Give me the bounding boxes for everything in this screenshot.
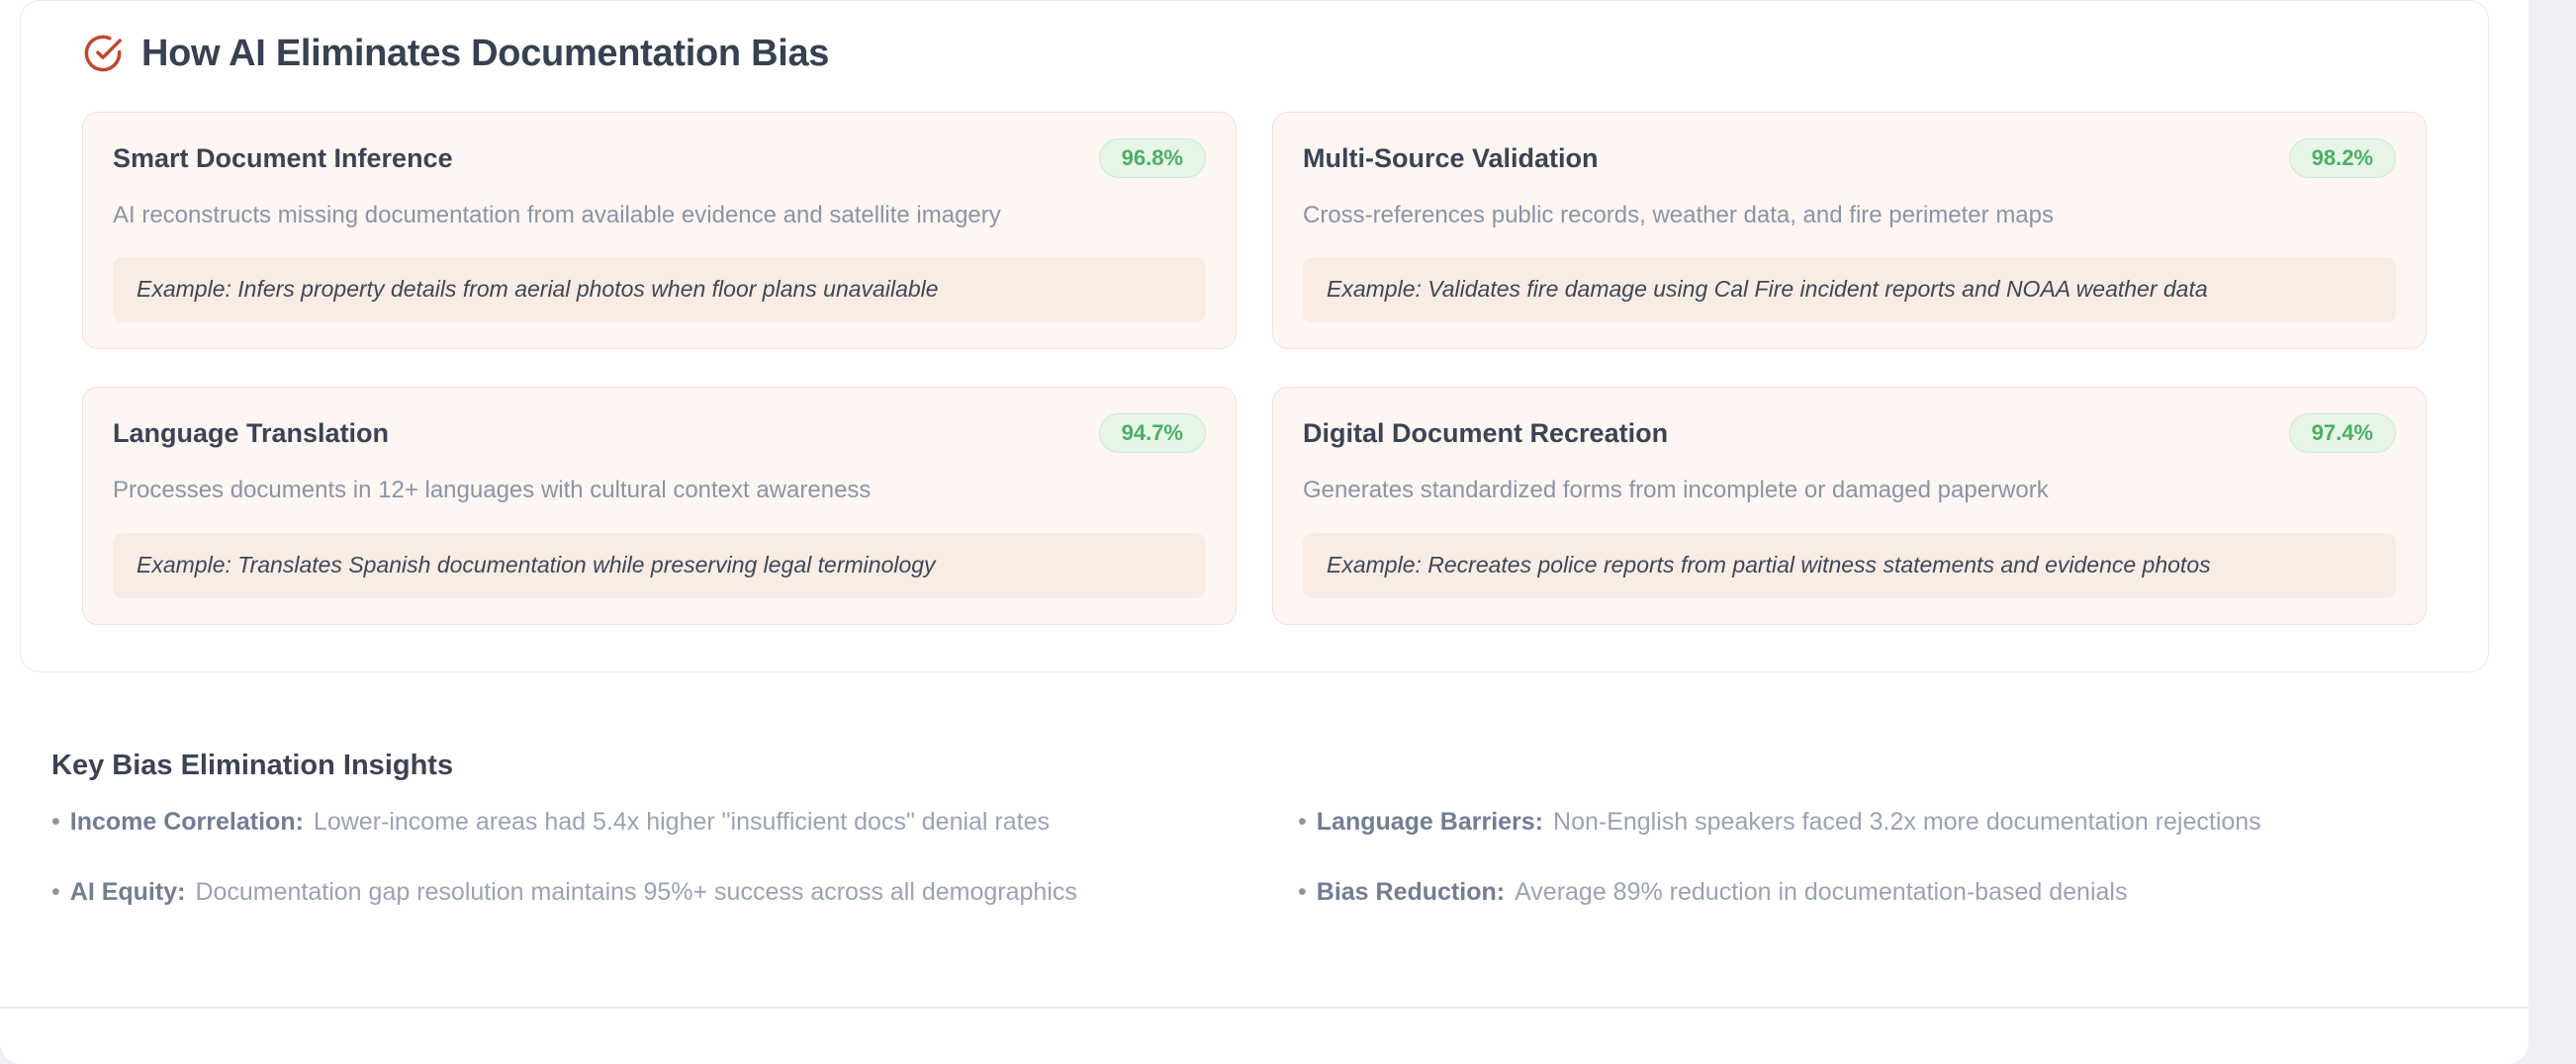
- insight-label: AI Equity:: [70, 876, 186, 909]
- accuracy-badge: 98.2%: [2289, 138, 2396, 178]
- page-panel: How AI Eliminates Documentation Bias Sma…: [0, 0, 2529, 1064]
- check-circle-icon: [82, 33, 124, 74]
- bullet-icon: •: [51, 880, 60, 905]
- capability-card-header: Smart Document Inference 96.8%: [113, 138, 1206, 178]
- ai-capabilities-section: How AI Eliminates Documentation Bias Sma…: [20, 0, 2489, 672]
- capability-description: Cross-references public records, weather…: [1303, 200, 2396, 231]
- capability-example: Example: Recreates police reports from p…: [1303, 533, 2396, 598]
- insight-text: Documentation gap resolution maintains 9…: [195, 876, 1076, 909]
- accuracy-badge: 94.7%: [1099, 413, 1206, 453]
- page-title: How AI Eliminates Documentation Bias: [141, 35, 829, 72]
- capability-example: Example: Translates Spanish documentatio…: [113, 533, 1206, 598]
- section-header: How AI Eliminates Documentation Bias: [82, 33, 2454, 74]
- insight-label: Language Barriers:: [1317, 806, 1543, 839]
- capability-card-digital-document-recreation[interactable]: Digital Document Recreation 97.4% Genera…: [1272, 387, 2427, 624]
- capability-example: Example: Validates fire damage using Cal…: [1303, 257, 2396, 322]
- bullet-icon: •: [51, 810, 60, 835]
- page-right-gutter: [2529, 0, 2576, 1064]
- capability-card-header: Digital Document Recreation 97.4%: [1303, 413, 2396, 453]
- insight-item-bias-reduction: • Bias Reduction: Average 89% reduction …: [1298, 876, 2485, 909]
- capability-description: Processes documents in 12+ languages wit…: [113, 475, 1206, 506]
- capability-card-smart-document-inference[interactable]: Smart Document Inference 96.8% AI recons…: [82, 112, 1237, 349]
- capability-card-header: Multi-Source Validation 98.2%: [1303, 138, 2396, 178]
- accuracy-badge: 97.4%: [2289, 413, 2396, 453]
- capability-card-multi-source-validation[interactable]: Multi-Source Validation 98.2% Cross-refe…: [1272, 112, 2427, 349]
- capability-description: AI reconstructs missing documentation fr…: [113, 200, 1206, 231]
- capability-grid: Smart Document Inference 96.8% AI recons…: [82, 112, 2427, 625]
- insights-heading: Key Bias Elimination Insights: [51, 752, 2485, 780]
- insight-text: Lower-income areas had 5.4x higher "insu…: [314, 806, 1050, 839]
- panel-divider: [0, 1007, 2529, 1009]
- capability-description: Generates standardized forms from incomp…: [1303, 475, 2396, 506]
- insight-text: Average 89% reduction in documentation-b…: [1515, 876, 2127, 909]
- capability-title: Smart Document Inference: [113, 142, 453, 174]
- accuracy-badge: 96.8%: [1099, 138, 1206, 178]
- insight-item-ai-equity: • AI Equity: Documentation gap resolutio…: [51, 876, 1239, 909]
- capability-card-language-translation[interactable]: Language Translation 94.7% Processes doc…: [82, 387, 1237, 624]
- bullet-icon: •: [1298, 880, 1307, 905]
- capability-example: Example: Infers property details from ae…: [113, 257, 1206, 322]
- capability-card-header: Language Translation 94.7%: [113, 413, 1206, 453]
- capability-title: Digital Document Recreation: [1303, 417, 1668, 449]
- insights-grid: • Income Correlation: Lower-income areas…: [51, 806, 2485, 908]
- capability-title: Multi-Source Validation: [1303, 142, 1599, 174]
- insight-label: Income Correlation:: [70, 806, 304, 839]
- insight-label: Bias Reduction:: [1317, 876, 1505, 909]
- insight-item-income-correlation: • Income Correlation: Lower-income areas…: [51, 806, 1239, 839]
- key-insights-section: Key Bias Elimination Insights • Income C…: [51, 752, 2485, 908]
- capability-title: Language Translation: [113, 417, 389, 449]
- bullet-icon: •: [1298, 810, 1307, 835]
- insight-item-language-barriers: • Language Barriers: Non-English speaker…: [1298, 806, 2485, 839]
- insight-text: Non-English speakers faced 3.2x more doc…: [1553, 806, 2261, 839]
